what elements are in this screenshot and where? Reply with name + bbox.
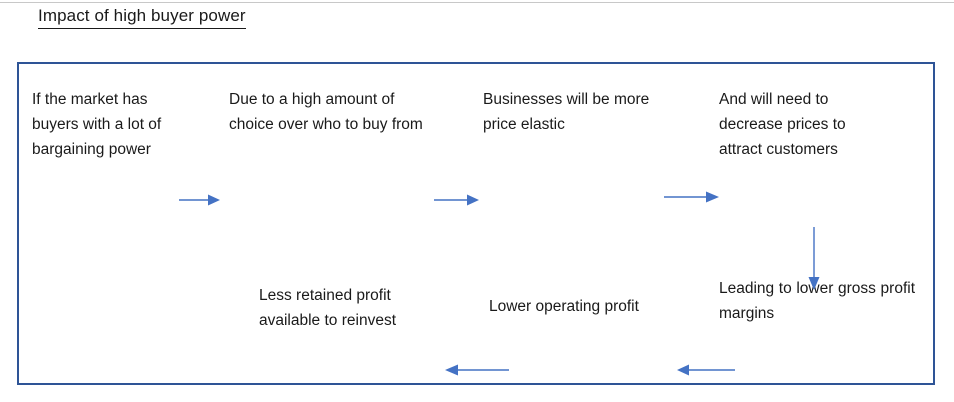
flow-node-high-choice: Due to a high amount of choice over who … bbox=[229, 87, 425, 137]
arrow-right-icon-1 bbox=[179, 192, 221, 208]
flow-node-lower-operating-profit: Lower operating profit bbox=[489, 294, 667, 319]
top-page-rule bbox=[0, 2, 954, 3]
flow-node-decrease-prices: And will need to decrease prices to attr… bbox=[719, 87, 884, 162]
arrow-left-icon-1 bbox=[675, 362, 735, 378]
arrow-down-icon bbox=[805, 227, 823, 291]
arrow-left-icon-2 bbox=[443, 362, 509, 378]
flow-node-market-buyers: If the market has buyers with a lot of b… bbox=[32, 87, 182, 162]
flow-node-price-elastic: Businesses will be more price elastic bbox=[483, 87, 655, 137]
flow-node-less-retained-profit: Less retained profit available to reinve… bbox=[259, 283, 439, 333]
page-title: Impact of high buyer power bbox=[38, 5, 246, 29]
arrow-right-icon-2 bbox=[434, 192, 480, 208]
arrow-right-icon-3 bbox=[664, 189, 720, 205]
diagram-frame: If the market has buyers with a lot of b… bbox=[17, 62, 935, 385]
